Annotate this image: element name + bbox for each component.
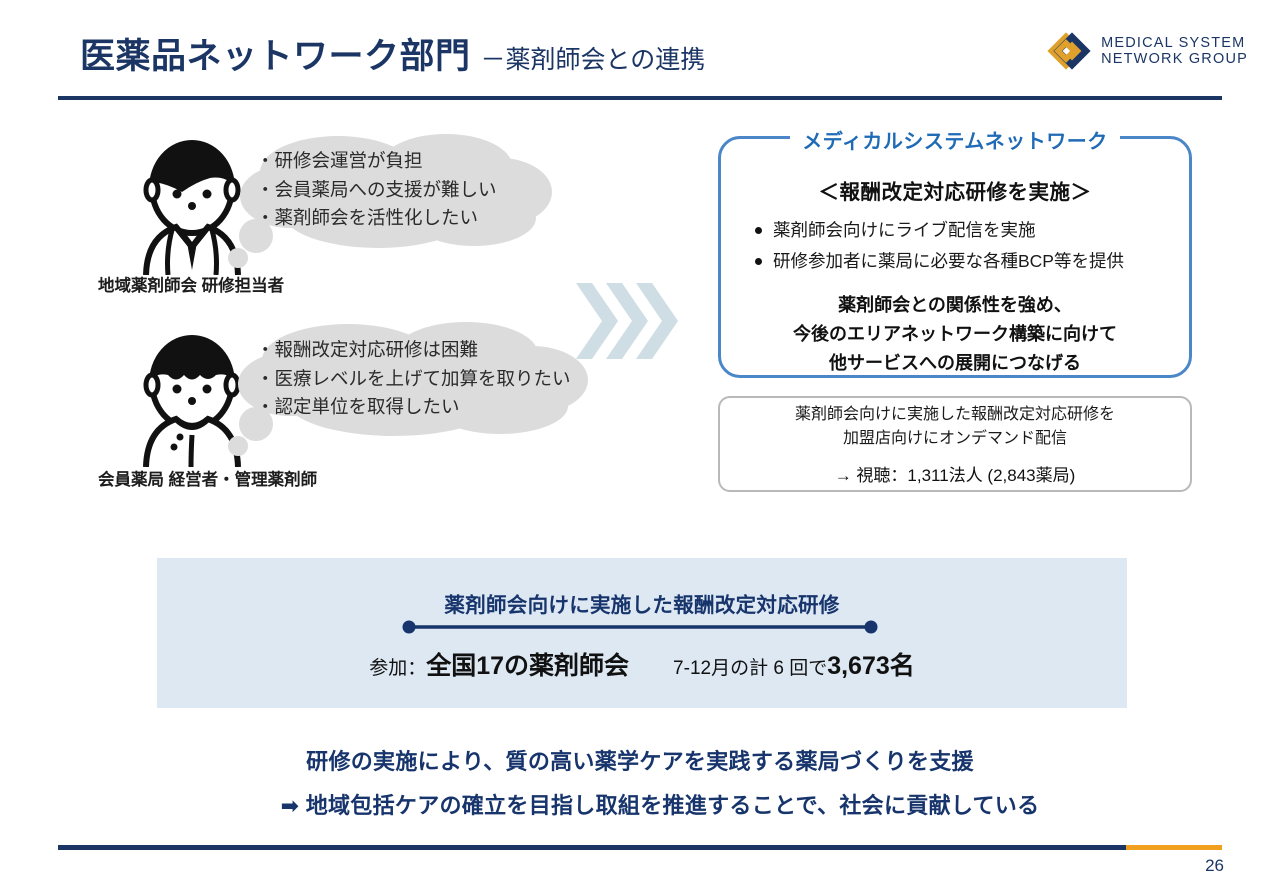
solution-heading: ＜報酬改定対応研修を実施＞: [721, 175, 1189, 205]
solution-bullet-1: 薬剤師会向けにライブ配信を実施: [773, 215, 1036, 246]
banner-underline-rule: [400, 620, 880, 634]
solution-footer-line-1: 薬剤師会との関係性を強め、: [721, 291, 1189, 320]
banner-stat-count: 3,673名: [827, 646, 915, 682]
msn-box-title-text: メディカルシステムネットワーク: [790, 131, 1120, 153]
footer-rule-orange: [1126, 845, 1222, 850]
title-divider: [58, 96, 1222, 100]
persona-label-1: 地域薬剤師会 研修担当者: [98, 272, 284, 296]
slide-root: 医薬品ネットワーク部門 －薬剤師会との連携 MEDICAL SYSTEM NET…: [0, 0, 1280, 886]
thought-bubble-1-text: ・研修会運営が負担 ・会員薬局への支援が難しい ・薬剤師会を活性化したい: [256, 147, 497, 233]
logo-wordmark: MEDICAL SYSTEM NETWORK GROUP: [1101, 35, 1248, 67]
page-number: 26: [1205, 856, 1224, 876]
logo-line-2: NETWORK GROUP: [1101, 51, 1248, 67]
bubble-2-line-1: ・報酬改定対応研修は困難: [256, 336, 571, 365]
ondemand-line-2: 加盟店向けにオンデマンド配信: [795, 427, 1115, 451]
ondemand-note-box: 薬剤師会向けに実施した報酬改定対応研修を 加盟店向けにオンデマンド配信 → 視聴…: [718, 396, 1192, 492]
solution-footer: 薬剤師会との関係性を強め、 今後のエリアネットワーク構築に向けて 他サービスへの…: [721, 291, 1189, 378]
page-title-sub: －薬剤師会との連携: [481, 40, 706, 76]
solution-footer-line-3: 他サービスへの展開につなげる: [721, 349, 1189, 378]
bullet-dot-icon: [755, 258, 762, 265]
conclusion-line-1: 研修の実施により、質の高い薬学ケアを実践する薬局づくりを支援: [0, 744, 1280, 776]
chevron-arrows-icon: [576, 283, 680, 364]
solution-footer-line-2: 今後のエリアネットワーク構築に向けて: [721, 320, 1189, 349]
page-title: 医薬品ネットワーク部門 －薬剤師会との連携: [80, 28, 705, 79]
ondemand-result: → 視聴：1,311法人 (2,843薬局): [835, 461, 1076, 486]
bubble-1-line-2: ・会員薬局への支援が難しい: [256, 176, 497, 205]
solution-bullet-2: 研修参加者に薬局に必要な各種BCP等を提供: [773, 246, 1124, 277]
conclusion-block: 研修の実施により、質の高い薬学ケアを実践する薬局づくりを支援 ➡ 地域包括ケアの…: [0, 744, 1280, 820]
bubble-2-line-2: ・医療レベルを上げて加算を取りたい: [256, 365, 571, 394]
banner-title: 薬剤師会向けに実施した報酬改定対応研修: [157, 588, 1127, 618]
ondemand-line-1: 薬剤師会向けに実施した報酬改定対応研修を: [795, 403, 1115, 427]
conclusion-line-2: ➡ 地域包括ケアの確立を目指し取組を推進することで、社会に貢献している: [0, 788, 1280, 820]
diamond-logo-icon: [1046, 28, 1092, 74]
thought-bubble-2-text: ・報酬改定対応研修は困難 ・医療レベルを上げて加算を取りたい ・認定単位を取得し…: [256, 336, 571, 422]
summary-banner: 薬剤師会向けに実施した報酬改定対応研修 参加： 全国17の薬剤師会 7-12月の…: [157, 558, 1127, 708]
persona-label-2: 会員薬局 経営者・管理薬剤師: [98, 466, 317, 490]
list-item: 薬剤師会向けにライブ配信を実施: [755, 215, 1175, 246]
msn-box-title: メディカルシステムネットワーク: [718, 125, 1192, 154]
page-title-main: 医薬品ネットワーク部門: [80, 28, 471, 79]
bullet-dot-icon: [755, 227, 762, 234]
logo-line-1: MEDICAL SYSTEM: [1101, 35, 1248, 51]
banner-stat-main: 全国17の薬剤師会: [426, 646, 629, 682]
footer-rule-navy: [58, 845, 1126, 850]
banner-stat-prefix: 参加：: [369, 653, 426, 680]
bubble-1-line-3: ・薬剤師会を活性化したい: [256, 204, 497, 233]
ondemand-note-text: 薬剤師会向けに実施した報酬改定対応研修を 加盟店向けにオンデマンド配信: [795, 403, 1115, 451]
list-item: 研修参加者に薬局に必要な各種BCP等を提供: [755, 246, 1175, 277]
bubble-1-line-1: ・研修会運営が負担: [256, 147, 497, 176]
msn-solution-box: ＜報酬改定対応研修を実施＞ 薬剤師会向けにライブ配信を実施 研修参加者に薬局に必…: [718, 136, 1192, 378]
banner-stat-mid: 7-12月の計 6 回で: [673, 653, 827, 680]
brand-logo: MEDICAL SYSTEM NETWORK GROUP: [1046, 28, 1248, 74]
banner-stats: 参加： 全国17の薬剤師会 7-12月の計 6 回で 3,673名: [157, 646, 1127, 682]
bubble-2-line-3: ・認定単位を取得したい: [256, 393, 571, 422]
solution-bullet-list: 薬剤師会向けにライブ配信を実施 研修参加者に薬局に必要な各種BCP等を提供: [755, 215, 1175, 277]
